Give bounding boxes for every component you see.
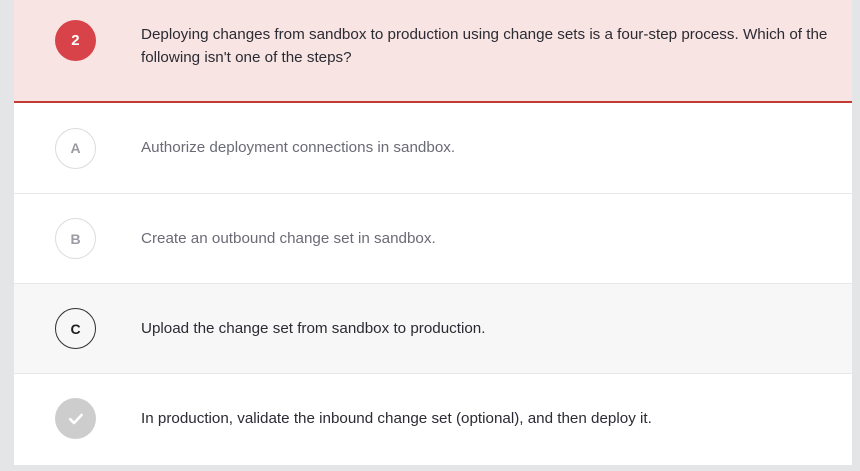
question-text: Deploying changes from sandbox to produc…: [141, 18, 828, 69]
option-label-d: In production, validate the inbound chan…: [141, 408, 652, 430]
quiz-card: 2 Deploying changes from sandbox to prod…: [14, 0, 852, 465]
answer-option-d[interactable]: In production, validate the inbound chan…: [14, 373, 852, 463]
option-marker-d[interactable]: [55, 398, 96, 439]
option-marker-a[interactable]: A: [55, 128, 96, 169]
option-label-c: Upload the change set from sandbox to pr…: [141, 318, 485, 340]
answer-options-list: A Authorize deployment connections in sa…: [14, 103, 852, 463]
answer-option-c[interactable]: C Upload the change set from sandbox to …: [14, 283, 852, 373]
quiz-page: 2 Deploying changes from sandbox to prod…: [0, 0, 860, 471]
checkmark-icon: [66, 409, 86, 429]
option-label-b: Create an outbound change set in sandbox…: [141, 228, 436, 250]
answer-option-a[interactable]: A Authorize deployment connections in sa…: [14, 103, 852, 193]
option-marker-b[interactable]: B: [55, 218, 96, 259]
option-marker-c[interactable]: C: [55, 308, 96, 349]
answer-option-b[interactable]: B Create an outbound change set in sandb…: [14, 193, 852, 283]
question-number-badge: 2: [55, 20, 96, 61]
option-label-a: Authorize deployment connections in sand…: [141, 137, 455, 159]
question-header: 2 Deploying changes from sandbox to prod…: [14, 0, 852, 103]
